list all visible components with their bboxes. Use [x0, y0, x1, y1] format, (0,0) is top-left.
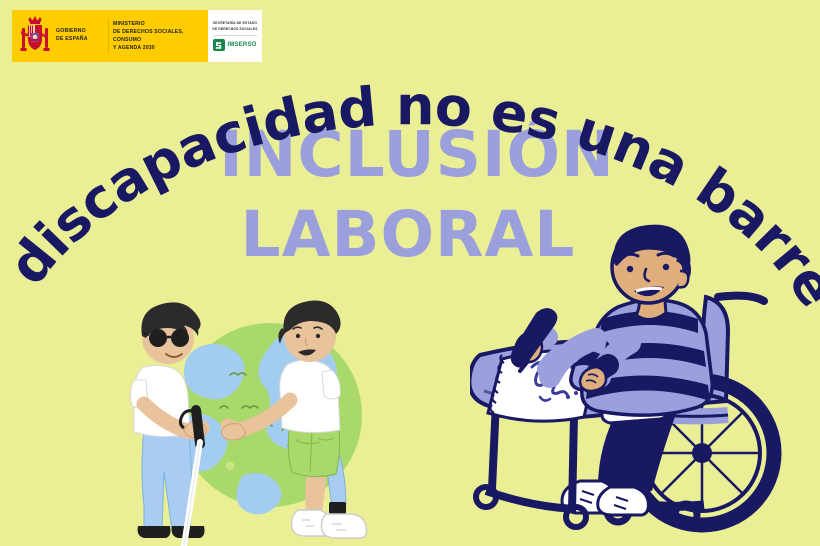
ministerio-line-3: Y AGENDA 2030 [113, 44, 204, 52]
gobierno-text-block: GOBIERNO DE ESPAÑA [56, 28, 104, 44]
gobierno-line-1: GOBIERNO [56, 28, 104, 36]
spain-coat-of-arms-icon [18, 15, 52, 57]
imserso-mark-icon [213, 39, 225, 51]
two-figures-holding-globe-illustration [130, 280, 410, 546]
poster-canvas: GOBIERNO DE ESPAÑA MINISTERIO DE DERECHO… [0, 0, 820, 546]
logo-yellow-panel: GOBIERNO DE ESPAÑA MINISTERIO DE DERECHO… [12, 10, 208, 62]
ministerio-text-block: MINISTERIO DE DERECHOS SOCIALES, CONSUMO… [113, 20, 204, 52]
ministerio-line-1: MINISTERIO [113, 20, 204, 28]
imserso-logo-row: IMSERSO [213, 39, 256, 51]
secretaria-line-2: DE DERECHOS SOCIALES [212, 27, 257, 32]
imserso-label: IMSERSO [227, 42, 256, 48]
secretaria-line-1: SECRETARÍA DE ESTADO [212, 21, 257, 26]
center-headline: INCLUSIÓN LABORAL [0, 125, 820, 266]
imserso-rule [213, 35, 257, 36]
title-line-inclusion: INCLUSIÓN [14, 125, 820, 185]
gobierno-line-2: DE ESPAÑA [56, 36, 104, 44]
ministerio-line-2: DE DERECHOS SOCIALES, CONSUMO [113, 28, 204, 44]
logo-divider [108, 19, 109, 53]
government-logo-bar: GOBIERNO DE ESPAÑA MINISTERIO DE DERECHO… [12, 10, 262, 62]
title-line-laboral: LABORAL [0, 205, 820, 265]
blind-person-figure [130, 302, 206, 546]
secretaria-text-block: SECRETARÍA DE ESTADO DE DERECHOS SOCIALE… [212, 21, 257, 32]
imserso-panel: SECRETARÍA DE ESTADO DE DERECHOS SOCIALE… [208, 10, 262, 62]
